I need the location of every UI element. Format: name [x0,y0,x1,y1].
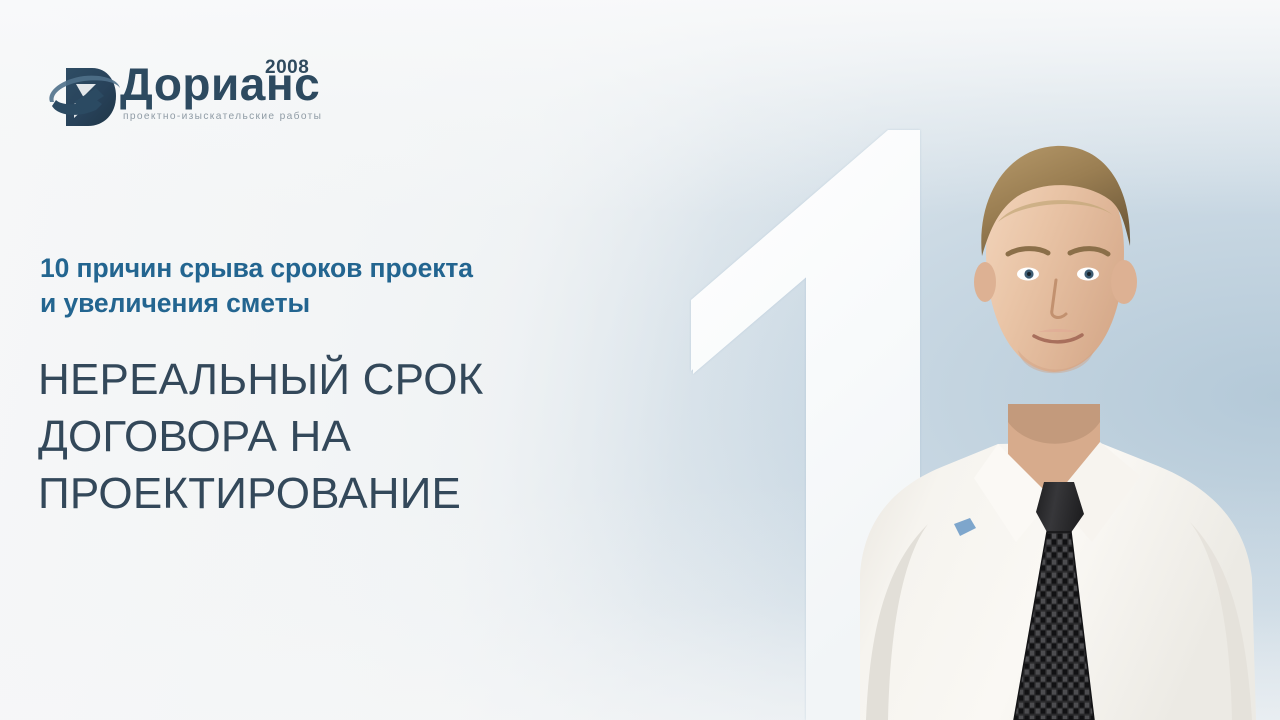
series-subtitle: 10 причин срыва сроков проекта и увеличе… [40,251,600,320]
logo-tagline: проектно-изыскательские работы [123,111,355,129]
presentation-slide: Дорианс 2008 проектно-изыскательские раб… [0,0,1280,720]
presenter-photo [848,104,1280,720]
dorians-orbit-emblem-icon [44,58,122,134]
company-logo[interactable]: Дорианс 2008 проектно-изыскательские раб… [44,54,344,140]
slide-headline: НЕРЕАЛЬНЫЙ СРОК ДОГОВОРА НА ПРОЕКТИРОВАН… [38,352,638,522]
logo-year: 2008 [265,57,309,79]
logo-wordmark: Дорианс [120,54,380,116]
logo-wordmark-text: Дорианс [120,54,380,116]
